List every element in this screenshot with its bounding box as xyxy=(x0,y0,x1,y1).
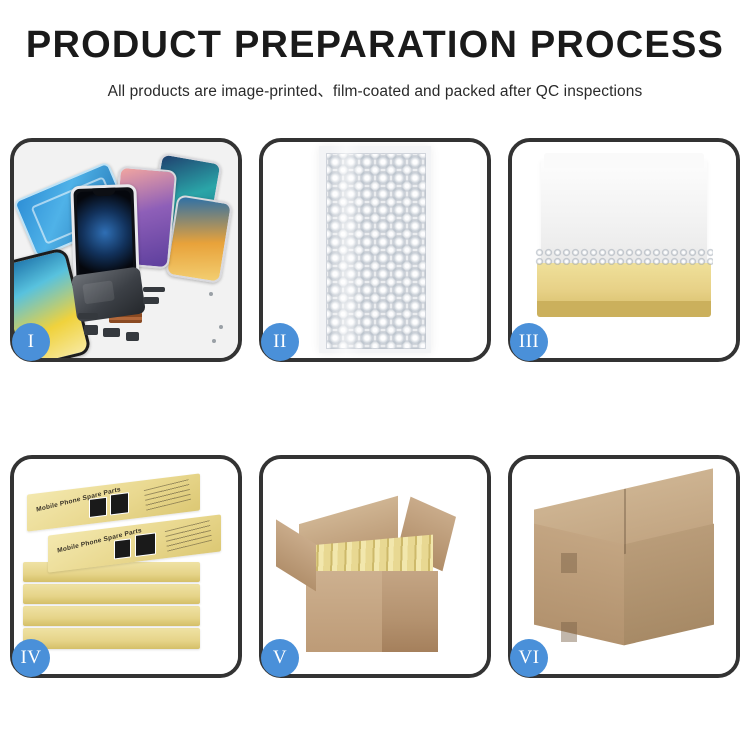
connector-part-f xyxy=(143,297,159,304)
carton-tape-lower xyxy=(561,622,577,641)
connector-part-e xyxy=(143,287,165,292)
spare-parts-cluster xyxy=(74,271,231,357)
step-panel-2: II xyxy=(259,138,491,362)
retail-box-stack: Mobile Phone Spare Parts Mobile Phone Sp… xyxy=(23,480,229,665)
page-title: PRODUCT PREPARATION PROCESS xyxy=(0,26,750,66)
step-4-image: Mobile Phone Spare Parts Mobile Phone Sp… xyxy=(14,459,238,675)
box-art-screen-a xyxy=(89,496,107,517)
retail-box-layer-4 xyxy=(23,584,200,604)
step-2-image xyxy=(263,142,487,358)
retail-box-layer-6 xyxy=(23,628,200,648)
connector-part-d xyxy=(126,332,139,341)
step-6-image xyxy=(512,459,736,675)
connector-part-c xyxy=(103,328,120,337)
step-badge-2: II xyxy=(261,323,299,361)
phone-orange xyxy=(165,194,233,283)
sealed-carton-left xyxy=(534,524,624,646)
steps-grid: I II III xyxy=(10,138,740,678)
step-badge-1: I xyxy=(12,323,50,361)
box-spec-lines-2 xyxy=(164,520,211,552)
step-badge-5: V xyxy=(261,639,299,677)
connector-part-b xyxy=(84,325,98,335)
step-badge-3: III xyxy=(510,323,548,361)
step-panel-6: VI xyxy=(508,455,740,679)
carton-front-panel xyxy=(306,571,382,653)
kraft-box-front-panel xyxy=(537,301,712,316)
step-3-image xyxy=(512,142,736,358)
carton-tape-upper xyxy=(561,553,577,572)
header: PRODUCT PREPARATION PROCESS All products… xyxy=(0,0,750,101)
product-preparation-infographic: PRODUCT PREPARATION PROCESS All products… xyxy=(0,0,750,750)
screw-part-a xyxy=(209,292,213,296)
step-panel-1: I xyxy=(10,138,242,362)
step-1-image xyxy=(14,142,238,358)
screw-part-c xyxy=(212,339,216,343)
step-badge-6: VI xyxy=(510,639,548,677)
sealed-carton-right xyxy=(624,524,714,646)
box-art-screen-c xyxy=(113,538,131,559)
step-panel-4: Mobile Phone Spare Parts Mobile Phone Sp… xyxy=(10,455,242,679)
step-5-image xyxy=(263,459,487,675)
plastic-sheen xyxy=(330,142,361,358)
retail-box-layer-5 xyxy=(23,606,200,626)
box-art-screen-b xyxy=(110,491,129,515)
step-panel-5: V xyxy=(259,455,491,679)
sealed-carton-seam xyxy=(624,488,626,553)
step-badge-4: IV xyxy=(12,639,50,677)
step-panel-3: III xyxy=(508,138,740,362)
box-spec-lines-1 xyxy=(144,479,191,511)
retail-box-label-1: Mobile Phone Spare Parts xyxy=(36,486,121,514)
box-art-screen-d xyxy=(134,532,155,557)
page-subtitle: All products are image-printed、film-coat… xyxy=(0,79,750,101)
screw-part-b xyxy=(219,325,223,329)
connector-part-a xyxy=(78,313,98,319)
